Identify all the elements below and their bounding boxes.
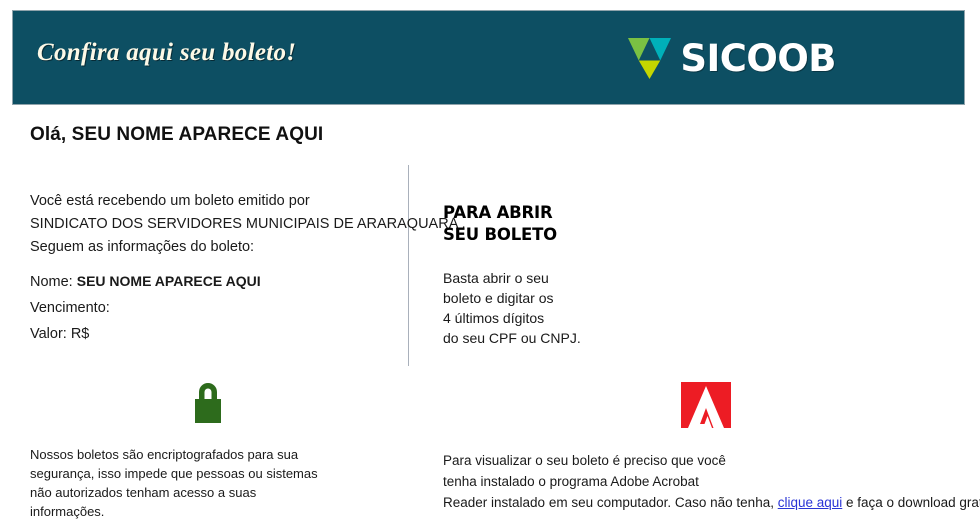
instructions-heading-line-1: PARA ABRIR bbox=[443, 202, 743, 224]
instructions-body-line-4: do seu CPF ou CNPJ. bbox=[443, 328, 743, 348]
acrobat-note-line-1: Para visualizar o seu boleto é preciso q… bbox=[443, 450, 973, 471]
instructions-body: Basta abrir o seu boleto e digitar os 4 … bbox=[443, 268, 743, 348]
padlock-icon bbox=[185, 378, 231, 428]
acrobat-note-line-3: Reader instalado em seu computador. Caso… bbox=[443, 492, 973, 513]
acrobat-note: Para visualizar o seu boleto é preciso q… bbox=[443, 450, 973, 513]
sicoob-wordmark: SICOOB bbox=[680, 40, 836, 77]
instructions-heading-line-2: SEU BOLETO bbox=[443, 224, 743, 246]
security-note-line-1: Nossos boletos são encriptografados para… bbox=[30, 445, 390, 464]
sicoob-brand: SICOOB bbox=[626, 36, 836, 81]
instructions-body-line-3: 4 últimos dígitos bbox=[443, 308, 743, 328]
field-nome: Nome: SEU NOME APARECE AQUI bbox=[30, 269, 400, 295]
security-note-line-4: informações. bbox=[30, 502, 390, 521]
intro-line-3: Seguem as informações do boleto: bbox=[30, 236, 400, 259]
instructions-section: PARA ABRIR SEU BOLETO Basta abrir o seu … bbox=[443, 202, 743, 348]
acrobat-note-line-3-prefix: Reader instalado em seu computador. Caso… bbox=[443, 495, 778, 510]
page-title: Olá, SEU NOME APARECE AQUI bbox=[30, 124, 323, 146]
instructions-body-line-2: boleto e digitar os bbox=[443, 288, 743, 308]
field-nome-label: Nome: bbox=[30, 274, 73, 290]
header-banner: Confira aqui seu boleto! SICOOB bbox=[12, 10, 965, 105]
security-note: Nossos boletos são encriptografados para… bbox=[30, 445, 390, 521]
acrobat-note-line-3-suffix: e faça o download gratuitamente. bbox=[842, 495, 980, 510]
field-valor: Valor: R$ bbox=[30, 321, 400, 347]
field-nome-value: SEU NOME APARECE AQUI bbox=[77, 273, 261, 289]
security-note-line-3: não autorizados tenham acesso a suas bbox=[30, 483, 390, 502]
intro-line-1: Você está recebendo um boleto emitido po… bbox=[30, 190, 400, 213]
issuer-name: SINDICATO DOS SERVIDORES MUNICIPAIS DE A… bbox=[30, 213, 400, 236]
boleto-info-section: Você está recebendo um boleto emitido po… bbox=[30, 190, 400, 347]
adobe-acrobat-icon bbox=[681, 382, 731, 428]
instructions-body-line-1: Basta abrir o seu bbox=[443, 268, 743, 288]
column-divider bbox=[408, 165, 409, 366]
instructions-heading: PARA ABRIR SEU BOLETO bbox=[443, 202, 743, 246]
field-vencimento-label: Vencimento: bbox=[30, 300, 110, 316]
security-note-line-2: segurança, isso impede que pessoas ou si… bbox=[30, 464, 390, 483]
field-vencimento: Vencimento: bbox=[30, 295, 400, 321]
acrobat-note-line-2: tenha instalado o programa Adobe Acrobat bbox=[443, 471, 973, 492]
field-valor-label: Valor: R$ bbox=[30, 326, 89, 342]
download-acrobat-link[interactable]: clique aqui bbox=[778, 495, 843, 510]
sicoob-triangle-logo-icon bbox=[626, 36, 673, 81]
header-title: Confira aqui seu boleto! bbox=[37, 39, 296, 67]
